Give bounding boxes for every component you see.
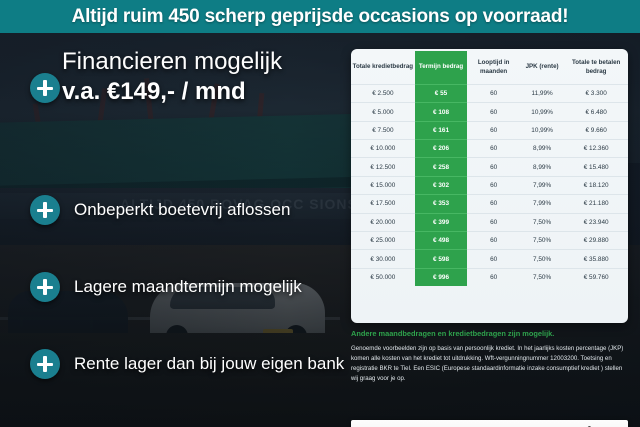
table-cell: 60: [467, 231, 520, 249]
table-cell: € 353: [415, 195, 468, 213]
table-cell: € 18.120: [564, 176, 628, 194]
table-cell: 60: [467, 158, 520, 176]
table-cell: € 21.180: [564, 195, 628, 213]
table-cell: € 12.360: [564, 140, 628, 158]
table-cell: € 20.000: [351, 213, 415, 231]
table-cell: € 29.880: [564, 231, 628, 249]
rate-table-card: Totale kredietbedrag Termijn bedrag Loop…: [351, 49, 628, 323]
rate-table: Totale kredietbedrag Termijn bedrag Loop…: [351, 51, 628, 286]
table-header-row: Totale kredietbedrag Termijn bedrag Loop…: [351, 51, 628, 84]
marketing-column: Financieren mogelijk v.a. €149,- / mnd O…: [0, 33, 345, 427]
table-cell: € 108: [415, 103, 468, 121]
table-row: € 5.000€ 1086010,99%€ 6.480: [351, 103, 628, 121]
table-cell: 60: [467, 140, 520, 158]
table-cell: € 12.500: [351, 158, 415, 176]
benefit-label: Onbeperkt boetevrij aflossen: [74, 200, 290, 220]
table-cell: 60: [467, 213, 520, 231]
table-cell: € 50.000: [351, 268, 415, 286]
hero-headline: Financieren mogelijk: [62, 49, 342, 76]
table-cell: 7,99%: [520, 176, 564, 194]
table-cell: 60: [467, 268, 520, 286]
disclaimer-body: Genoemde voorbeelden zijn op basis van p…: [351, 344, 628, 383]
afm-warning-bar: Let op! Geld lenen kost geld: [351, 420, 628, 427]
promo-banner: Altijd ruim 450 scherp geprijsde occasio…: [0, 0, 640, 33]
column-header-totaal: Totale te betalen bedrag: [564, 51, 628, 84]
table-cell: € 6.480: [564, 103, 628, 121]
table-cell: 7,50%: [520, 268, 564, 286]
table-cell: 60: [467, 84, 520, 102]
disclaimer-block: Andere maandbedragen en kredietbedragen …: [351, 329, 628, 413]
table-cell: € 25.000: [351, 231, 415, 249]
table-cell: 60: [467, 103, 520, 121]
promo-banner-text: Altijd ruim 450 scherp geprijsde occasio…: [72, 6, 569, 28]
plus-circle-icon: [30, 349, 60, 379]
column-header-jpk: JPK (rente): [520, 51, 564, 84]
hero-stage: ALTIJD 450 BOVAG OCC SIONS Financieren m…: [0, 33, 640, 427]
benefit-label: Lagere maandtermijn mogelijk: [74, 277, 302, 297]
table-row: € 7.500€ 1616010,99%€ 9.660: [351, 121, 628, 139]
rate-table-body: € 2.500€ 556011,99%€ 3.300€ 5.000€ 10860…: [351, 84, 628, 286]
benefit-item-maandtermijn: Lagere maandtermijn mogelijk: [30, 272, 302, 302]
table-cell: 10,99%: [520, 103, 564, 121]
table-cell: € 3.300: [564, 84, 628, 102]
table-cell: € 7.500: [351, 121, 415, 139]
table-cell: € 258: [415, 158, 468, 176]
table-cell: € 15.480: [564, 158, 628, 176]
benefit-label: Rente lager dan bij jouw eigen bank: [74, 354, 344, 374]
benefit-item-aflossen: Onbeperkt boetevrij aflossen: [30, 195, 290, 225]
table-cell: 7,50%: [520, 213, 564, 231]
table-cell: 60: [467, 195, 520, 213]
table-cell: € 206: [415, 140, 468, 158]
table-cell: 8,99%: [520, 140, 564, 158]
plus-circle-icon: [30, 195, 60, 225]
table-cell: € 9.660: [564, 121, 628, 139]
column-header-looptijd: Looptijd in maanden: [467, 51, 520, 84]
table-cell: 7,99%: [520, 195, 564, 213]
table-cell: 60: [467, 176, 520, 194]
table-row: € 15.000€ 302607,99%€ 18.120: [351, 176, 628, 194]
table-row: € 12.500€ 258608,99%€ 15.480: [351, 158, 628, 176]
table-cell: € 996: [415, 268, 468, 286]
table-cell: € 598: [415, 250, 468, 268]
table-cell: 60: [467, 121, 520, 139]
table-cell: 11,99%: [520, 84, 564, 102]
table-cell: € 30.000: [351, 250, 415, 268]
table-cell: € 302: [415, 176, 468, 194]
table-cell: € 23.940: [564, 213, 628, 231]
table-row: € 30.000€ 598607,50%€ 35.880: [351, 250, 628, 268]
table-cell: € 498: [415, 231, 468, 249]
disclaimer-title: Andere maandbedragen en kredietbedragen …: [351, 329, 628, 339]
table-cell: € 35.880: [564, 250, 628, 268]
table-cell: € 10.000: [351, 140, 415, 158]
table-cell: € 161: [415, 121, 468, 139]
table-row: € 17.500€ 353607,99%€ 21.180: [351, 195, 628, 213]
table-cell: € 59.760: [564, 268, 628, 286]
table-row: € 50.000€ 996607,50%€ 59.760: [351, 268, 628, 286]
table-cell: € 17.500: [351, 195, 415, 213]
table-cell: 8,99%: [520, 158, 564, 176]
table-cell: 60: [467, 250, 520, 268]
table-cell: 10,99%: [520, 121, 564, 139]
table-row: € 2.500€ 556011,99%€ 3.300: [351, 84, 628, 102]
column-header-termijnbedrag: Termijn bedrag: [415, 51, 468, 84]
table-row: € 10.000€ 206608,99%€ 12.360: [351, 140, 628, 158]
table-row: € 20.000€ 399607,50%€ 23.940: [351, 213, 628, 231]
plus-circle-icon: [30, 272, 60, 302]
column-header-kredietbedrag: Totale kredietbedrag: [351, 51, 415, 84]
benefit-item-rente: Rente lager dan bij jouw eigen bank: [30, 349, 344, 379]
table-cell: € 2.500: [351, 84, 415, 102]
table-row: € 25.000€ 498607,50%€ 29.880: [351, 231, 628, 249]
table-cell: 7,50%: [520, 250, 564, 268]
hero-subheadline: v.a. €149,- / mnd: [62, 79, 342, 106]
plus-circle-icon: [30, 73, 60, 103]
table-cell: € 399: [415, 213, 468, 231]
table-cell: 7,50%: [520, 231, 564, 249]
table-cell: € 15.000: [351, 176, 415, 194]
table-cell: € 5.000: [351, 103, 415, 121]
table-cell: € 55: [415, 84, 468, 102]
